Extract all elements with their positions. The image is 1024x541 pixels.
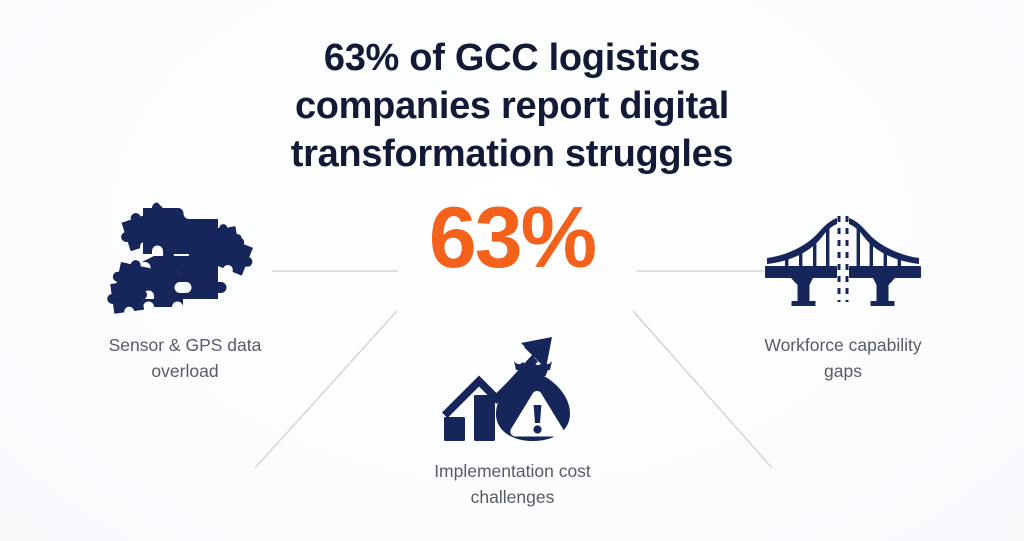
node-label-workforce-capability-gaps: Workforce capability gaps — [718, 332, 968, 384]
node-label-sensor-gps-overload: Sensor & GPS data overload — [60, 332, 310, 384]
node-sensor-gps-overload: Sensor & GPS data overload — [60, 196, 310, 384]
center-statistic: 63% — [392, 190, 632, 286]
node-implementation-cost: Implementation cost challenges — [390, 330, 635, 510]
rising-cost-money-bag-warning-icon — [390, 330, 635, 448]
node-label-implementation-cost: Implementation cost challenges — [390, 458, 635, 510]
page-title: 63% of GCC logistics companies report di… — [252, 34, 772, 178]
infographic-canvas: 63% of GCC logistics companies report di… — [0, 0, 1024, 541]
node-workforce-capability-gaps: Workforce capability gaps — [718, 196, 968, 384]
scattered-puzzle-pieces-icon — [60, 196, 310, 316]
broken-bridge-icon — [718, 196, 968, 316]
